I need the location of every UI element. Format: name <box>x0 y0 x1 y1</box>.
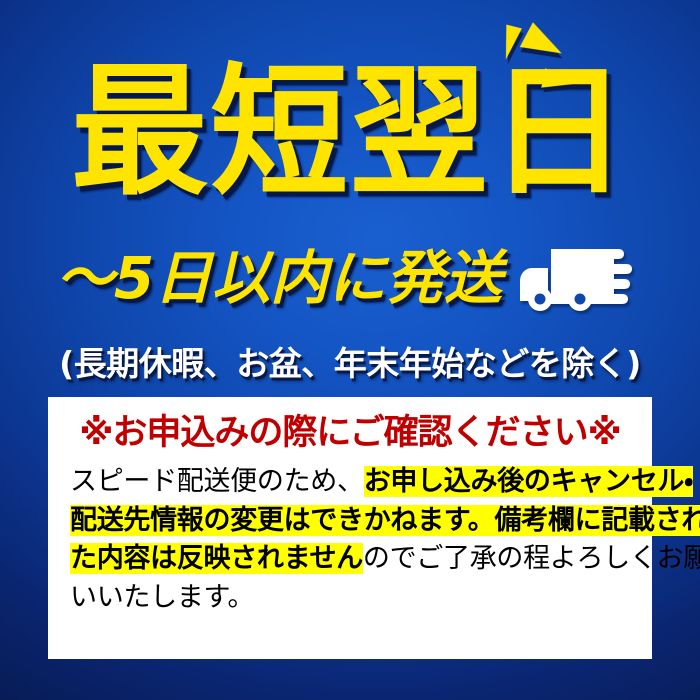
highlighted-text: 配送先情報の変更はできかねます。備考欄に記載され <box>70 505 700 536</box>
notice-body-line: いいたします。 <box>70 579 630 618</box>
plain-text: いいたします。 <box>70 582 254 613</box>
notice-card: ※お申込みの際にご確認ください※ スピード配送便のため、お申し込み後のキャンセル… <box>48 397 652 659</box>
promotional-banner: 最短翌日 〜5日以内に発送 (長期休暇、お盆、年末年始などを除く) ※お申込みの… <box>0 0 700 700</box>
headline-block: 最短翌日 <box>0 62 700 204</box>
highlighted-text: お申し込み後のキャンセル・ <box>364 466 693 497</box>
notice-card-heading: ※お申込みの際にご確認ください※ <box>70 413 630 453</box>
headline-text: 最短翌日 <box>71 62 630 204</box>
shipping-time-text: 〜5日以内に発送 <box>56 249 502 307</box>
notice-body-line: た内容は反映されませんのでご了承の程よろしくお願 <box>70 540 630 579</box>
notice-card-body: スピード配送便のため、お申し込み後のキャンセル・配送先情報の変更はできかねます。… <box>70 463 630 617</box>
notice-body-line: 配送先情報の変更はできかねます。備考欄に記載され <box>70 502 630 541</box>
exclusion-note: (長期休暇、お盆、年末年始などを除く) <box>0 337 700 385</box>
highlighted-text: た内容は反映されません <box>70 543 363 574</box>
delivery-truck-icon <box>518 243 644 313</box>
plain-text: スピード配送便のため、 <box>70 466 364 497</box>
notice-body-line: スピード配送便のため、お申し込み後のキャンセル・ <box>70 463 630 502</box>
shipping-time-row: 〜5日以内に発送 <box>0 243 700 313</box>
plain-text: のでご了承の程よろしくお願 <box>363 543 700 574</box>
